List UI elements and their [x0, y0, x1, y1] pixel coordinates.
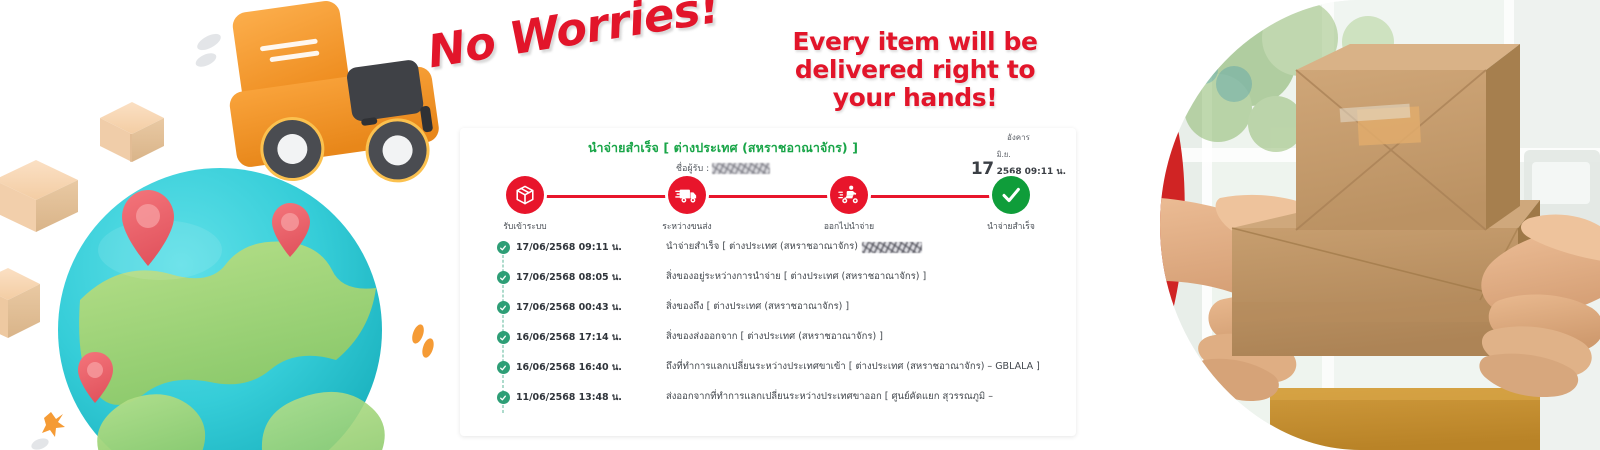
- headline-primary: No Worries!: [424, 0, 723, 78]
- timeline-time: 17/06/2568 09:11 น.: [516, 240, 666, 255]
- timeline-description-wrap: ถึงที่ทำการแลกเปลี่ยนระหว่างประเทศขาเข้า…: [666, 360, 1062, 374]
- timeline-marker: [490, 270, 516, 284]
- check-circle-icon-bubble: [992, 176, 1030, 214]
- step-received-into-system[interactable]: รับเข้าระบบ: [482, 176, 568, 233]
- parcel-box-icon: [0, 268, 40, 338]
- timeline-description-wrap: สิ่งของส่งออกจาก [ ต่างประเทศ (สหราชอาณา…: [666, 330, 1062, 344]
- timeline-description: ถึงที่ทำการแลกเปลี่ยนระหว่างประเทศขาเข้า…: [666, 360, 1040, 374]
- timeline-marker: [490, 330, 516, 344]
- scooter-courier-icon: [837, 183, 861, 207]
- step-delivered[interactable]: นำจ่ายสำเร็จ: [968, 176, 1054, 233]
- motion-puff-icon: [194, 31, 224, 70]
- check-circle-icon: [497, 361, 510, 374]
- timeline-row: 16/06/2568 16:40 น. ถึงที่ทำการแลกเปลี่ย…: [490, 356, 1062, 386]
- parcel-box-icon: [0, 160, 78, 232]
- timeline-time: 11/06/2568 13:48 น.: [516, 390, 666, 405]
- timeline-description-wrap: นำจ่ายสำเร็จ [ ต่างประเทศ (สหราชอาณาจักร…: [666, 240, 1062, 254]
- delivery-truck-icon-bubble: [668, 176, 706, 214]
- globe-icon: [58, 168, 385, 450]
- timeline-time: 16/06/2568 17:14 น.: [516, 330, 666, 345]
- timeline-time: 17/06/2568 08:05 น.: [516, 270, 666, 285]
- delivery-truck-icon: [675, 183, 699, 207]
- illustration-svg: [0, 0, 440, 450]
- timeline-description-wrap: สิ่งของอยู่ระหว่างการนำจ่าย [ ต่างประเทศ…: [666, 270, 1062, 284]
- timeline-marker: [490, 240, 516, 254]
- timeline-description: ส่งออกจากที่ทำการแลกเปลี่ยนระหว่างประเทศ…: [666, 390, 993, 404]
- parcel-box-icon: [100, 102, 164, 162]
- check-circle-icon: [497, 391, 510, 404]
- timeline-marker: [490, 360, 516, 374]
- delivery-date: อังคาร 17 มิ.ย. 2568 09:11 น.: [971, 134, 1066, 178]
- timeline-description: สิ่งของส่งออกจาก [ ต่างประเทศ (สหราชอาณา…: [666, 330, 883, 344]
- tracking-timeline: 17/06/2568 09:11 น. นำจ่ายสำเร็จ [ ต่างป…: [460, 236, 1076, 416]
- check-circle-icon: [999, 183, 1023, 207]
- timeline-marker: [490, 300, 516, 314]
- package-box-icon-bubble: [506, 176, 544, 214]
- courier-holding-parcels-photo: [1100, 0, 1600, 450]
- timeline-description-wrap: สิ่งของถึง [ ต่างประเทศ (สหราชอาณาจักร) …: [666, 300, 1062, 314]
- promo-tracking-banner: No Worries! Every item will be delivered…: [0, 0, 1600, 450]
- tracking-card-header: นำจ่ายสำเร็จ [ ต่างประเทศ (สหราชอาณาจักร…: [460, 128, 1076, 174]
- check-circle-icon: [497, 271, 510, 284]
- step-out-for-delivery[interactable]: ออกไปนำจ่าย: [806, 176, 892, 233]
- delivery-month: มิ.ย.: [997, 150, 1011, 159]
- step-label: ระหว่างขนส่ง: [644, 219, 730, 233]
- delivery-day-of-week: อังคาร: [971, 134, 1066, 142]
- timeline-description: สิ่งของถึง [ ต่างประเทศ (สหราชอาณาจักร) …: [666, 300, 849, 314]
- timeline-description: สิ่งของอยู่ระหว่างการนำจ่าย [ ต่างประเทศ…: [666, 270, 926, 284]
- timeline-description: นำจ่ายสำเร็จ [ ต่างประเทศ (สหราชอาณาจักร…: [666, 240, 858, 254]
- timeline-row: 17/06/2568 08:05 น. สิ่งของอยู่ระหว่างกา…: [490, 266, 1062, 296]
- check-circle-icon: [497, 301, 510, 314]
- confetti-icon: [30, 436, 50, 450]
- timeline-row: 16/06/2568 17:14 น. สิ่งของส่งออกจาก [ ต…: [490, 326, 1062, 356]
- step-label: รับเข้าระบบ: [482, 219, 568, 233]
- step-in-transit[interactable]: ระหว่างขนส่ง: [644, 176, 730, 233]
- headline-secondary: Every item will be delivered right to yo…: [760, 28, 1070, 112]
- tracking-card: นำจ่ายสำเร็จ [ ต่างประเทศ (สหราชอาณาจักร…: [460, 128, 1076, 436]
- step-label: นำจ่ายสำเร็จ: [968, 219, 1054, 233]
- timeline-marker: [490, 390, 516, 404]
- timeline-description-wrap: ส่งออกจากที่ทำการแลกเปลี่ยนระหว่างประเทศ…: [666, 390, 1062, 404]
- globe-truck-parcels-illustration: [0, 0, 440, 450]
- scooter-courier-icon-bubble: [830, 176, 868, 214]
- recipient-label: ชื่อผู้รับ :: [676, 161, 709, 175]
- check-circle-icon: [497, 331, 510, 344]
- check-circle-icon: [497, 241, 510, 254]
- timeline-redacted-value: [862, 242, 922, 253]
- shipment-progress-stepper: รับเข้าระบบ: [482, 176, 1054, 232]
- timeline-row: 17/06/2568 09:11 น. นำจ่ายสำเร็จ [ ต่างป…: [490, 236, 1062, 266]
- recipient-name-redacted: [712, 163, 770, 174]
- timeline-row: 17/06/2568 00:43 น. สิ่งของถึง [ ต่างประ…: [490, 296, 1062, 326]
- timeline-row: 11/06/2568 13:48 น. ส่งออกจากที่ทำการแลก…: [490, 386, 1062, 416]
- timeline-time: 16/06/2568 16:40 น.: [516, 360, 666, 375]
- photo-svg: [1100, 0, 1600, 450]
- package-box-icon: [514, 184, 536, 206]
- timeline-time: 17/06/2568 00:43 น.: [516, 300, 666, 315]
- step-label: ออกไปนำจ่าย: [806, 219, 892, 233]
